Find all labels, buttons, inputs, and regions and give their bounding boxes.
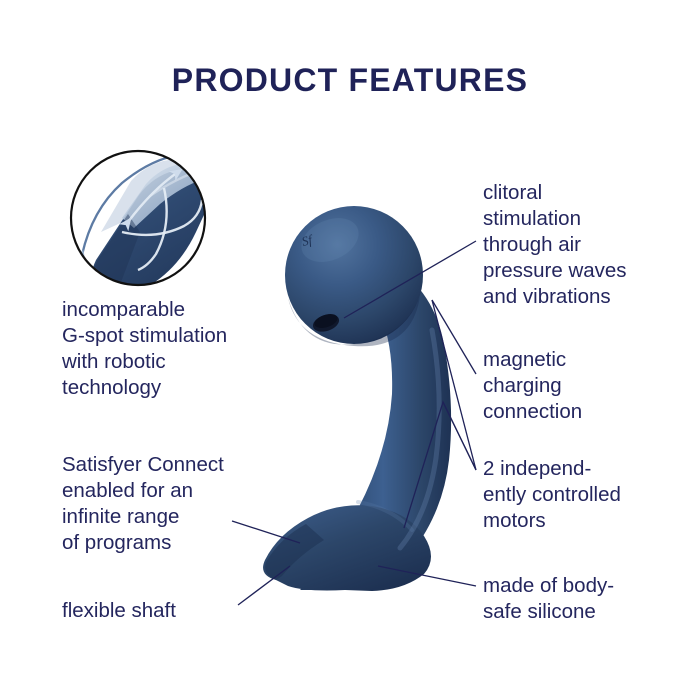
- product-features-infographic: PRODUCT FEATURES: [0, 0, 700, 700]
- feature-clitoral-stimulation: clitoral stimulation through air pressur…: [483, 180, 683, 310]
- product-body: Sf: [263, 206, 451, 591]
- product-base: [263, 505, 431, 591]
- satisfyer-logo: Sf: [300, 231, 316, 249]
- feature-flexible-shaft: flexible shaft: [62, 598, 277, 624]
- air-pulse-opening: [311, 311, 342, 335]
- feature-gspot-stimulation: incomparable G-spot stimulation with rob…: [62, 297, 277, 401]
- page-title: PRODUCT FEATURES: [0, 62, 700, 99]
- product-head: [285, 206, 423, 344]
- leader-clitoral: [344, 241, 476, 318]
- feature-satisfyer-connect: Satisfyer Connect enabled for an infinit…: [62, 452, 277, 556]
- product-shaft: [300, 266, 451, 590]
- leader-motors-upper: [432, 300, 476, 470]
- leader-motors-lower: [404, 402, 476, 528]
- feature-body-safe-silicone: made of body- safe silicone: [483, 573, 683, 625]
- leader-silicone: [378, 566, 476, 586]
- inset-circle-border: [71, 151, 205, 285]
- feature-magnetic-charging: magnetic charging connection: [483, 347, 683, 425]
- feature-two-motors: 2 independ- ently controlled motors: [483, 456, 683, 534]
- leader-magnetic: [432, 300, 476, 374]
- gspot-inset-illustration: [71, 151, 222, 297]
